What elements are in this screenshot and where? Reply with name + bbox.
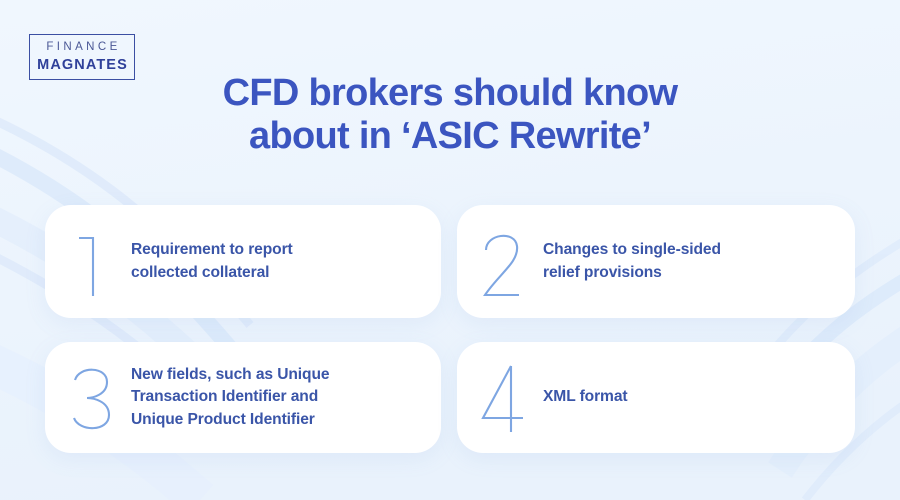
numeral-four-outline-icon [479,362,527,434]
list-item-card-2: Changes to single-sided relief provision… [457,205,855,318]
card-text-1-line-1: Requirement to report [131,239,425,261]
card-number-1 [45,226,131,298]
card-text-2: Changes to single-sided relief provision… [543,239,855,283]
card-text-3-line-1: New fields, such as Unique [131,364,425,386]
card-number-2 [457,226,543,298]
brand-logo: FINANCE MAGNATES [29,34,135,80]
numeral-two-outline-icon [479,226,527,298]
numeral-one-outline-icon [69,226,113,298]
card-text-3: New fields, such as Unique Transaction I… [131,364,441,430]
brand-logo-line-magnates: MAGNATES [36,58,128,73]
card-text-2-line-2: relief provisions [543,262,839,284]
card-text-2-line-1: Changes to single-sided [543,239,839,261]
list-item-card-3: New fields, such as Unique Transaction I… [45,342,441,453]
list-item-card-4: XML format [457,342,855,453]
card-number-4 [457,362,543,434]
page-title: CFD brokers should know about in ‘ASIC R… [0,72,900,157]
list-item-card-1: Requirement to report collected collater… [45,205,441,318]
numeral-three-outline-icon [67,362,115,434]
card-text-4: XML format [543,386,855,408]
page-title-line-2: about in ‘ASIC Rewrite’ [0,115,900,158]
brand-logo-line-finance: FINANCE [43,42,120,54]
card-text-3-line-3: Unique Product Identifier [131,409,425,431]
page-title-line-1: CFD brokers should know [0,72,900,115]
card-number-3 [45,362,131,434]
card-text-4-line-1: XML format [543,386,839,408]
card-text-1: Requirement to report collected collater… [131,239,441,283]
card-text-3-line-2: Transaction Identifier and [131,386,425,408]
card-text-1-line-2: collected collateral [131,262,425,284]
